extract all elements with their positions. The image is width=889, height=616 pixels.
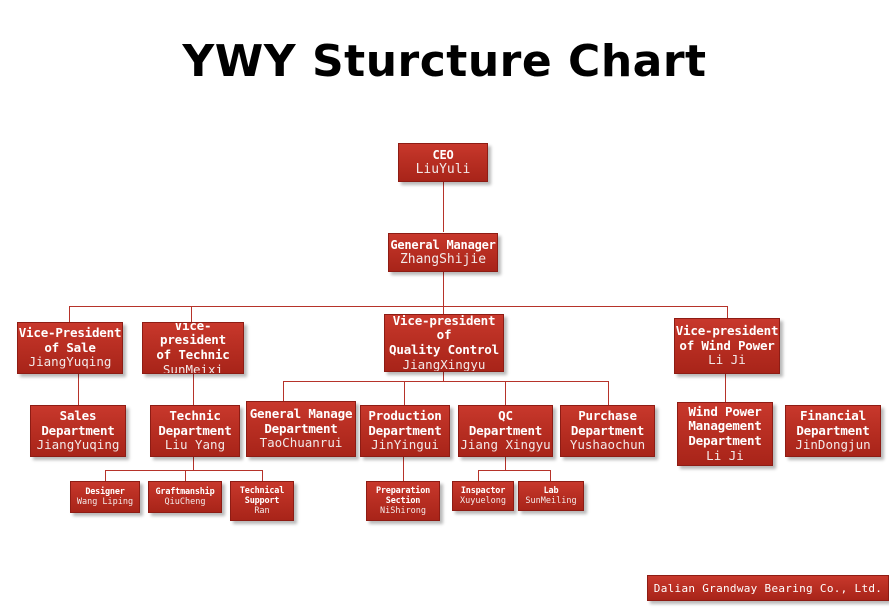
node-inspactor-name: Xuyuelong (460, 496, 506, 506)
node-purchase-department[interactable]: Purchase Department Yushaochun (560, 405, 655, 457)
node-preparation-section[interactable]: Preparation Section NiShirong (366, 481, 440, 521)
node-purchase-name: Yushaochun (570, 438, 645, 453)
node-preparation-name: NiShirong (380, 506, 426, 516)
connector-technic-sub-bus (105, 470, 262, 471)
node-vp-wind-name: Li Ji (708, 353, 746, 368)
page-title: YWY Sturcture Chart (0, 36, 889, 87)
node-ceo[interactable]: CEO LiuYuli (398, 143, 488, 182)
node-sales-line2: Department (41, 424, 114, 439)
node-preparation-line1: Preparation (376, 486, 430, 496)
node-technical-support[interactable]: Technical Support Ran (230, 481, 294, 521)
node-production-name: JinYingui (371, 438, 439, 453)
node-vp-wind-power[interactable]: Vice-president of Wind Power Li Ji (674, 318, 780, 374)
node-graftmanship-line1: Graftmanship (155, 487, 214, 497)
node-qcdept-line1: QC (498, 409, 513, 424)
node-graftmanship[interactable]: Graftmanship QiuCheng (148, 481, 222, 513)
company-name: Dalian Grandway Bearing Co., Ltd. (654, 582, 882, 595)
node-wind-line2: Management (688, 419, 761, 434)
node-vp-sale[interactable]: Vice-President of Sale JiangYuqing (17, 322, 123, 374)
node-financial-department[interactable]: Financial Department JinDongjun (785, 405, 881, 457)
node-wind-line3: Department (688, 434, 761, 449)
node-general-manager-name: ZhangShijie (400, 252, 486, 267)
node-financial-name: JinDongjun (795, 438, 870, 453)
node-vp-qc-line1: Vice-president of (385, 314, 503, 343)
company-footer-banner: Dalian Grandway Bearing Co., Ltd. (647, 575, 889, 601)
node-qcdept-name: Jiang Xingyu (460, 438, 550, 453)
connector-qcbus-to-production (404, 381, 405, 405)
node-qc-department[interactable]: QC Department Jiang Xingyu (458, 405, 553, 457)
node-technic-department[interactable]: Technic Department Liu Yang (150, 405, 240, 457)
node-inspactor-line1: Inspactor (461, 486, 505, 496)
connector-gm-down (443, 272, 444, 306)
node-lab-name: SunMeiling (525, 496, 576, 506)
connector-bus-to-vp-sale (69, 306, 70, 322)
node-sales-line1: Sales (60, 409, 97, 424)
node-purchase-line2: Department (571, 424, 644, 439)
node-vp-qc-line2: Quality Control (389, 343, 499, 358)
node-vp-technic-line2: of Technic (156, 348, 229, 363)
connector-qcbus-to-qcdept (505, 381, 506, 405)
node-designer-name: Wang Liping (77, 497, 133, 507)
node-purchase-line1: Purchase (578, 409, 637, 424)
node-qcdept-line2: Department (469, 424, 542, 439)
node-vp-technic[interactable]: Vice-president of Technic SunMeixi (142, 322, 244, 374)
node-designer-line1: Designer (85, 487, 124, 497)
connector-qcdept-down (505, 457, 506, 470)
connector-qcbus-to-purchase (608, 381, 609, 405)
node-inspactor[interactable]: Inspactor Xuyuelong (452, 481, 514, 511)
node-genmanage-line2: Department (264, 422, 337, 437)
connector-vp-bus (69, 306, 728, 307)
node-vp-technic-line1: Vice-president (143, 322, 243, 348)
node-wind-power-management-department[interactable]: Wind Power Management Department Li Ji (677, 402, 773, 466)
node-vp-wind-line1: Vice-president (676, 324, 779, 339)
connector-technicdept-down (193, 457, 194, 470)
node-general-manager[interactable]: General Manager ZhangShijie (388, 233, 498, 272)
connector-qc-sub-bus (478, 470, 550, 471)
node-general-manage-department[interactable]: General Manage Department TaoChuanrui (246, 401, 356, 457)
node-technic-line2: Department (158, 424, 231, 439)
connector-vpwind-to-winddept (725, 374, 726, 402)
node-lab-line1: Lab (544, 486, 559, 496)
connector-subbus-to-designer (105, 470, 106, 481)
node-techsupport-line1: Technical (240, 486, 284, 496)
node-genmanage-name: TaoChuanrui (260, 436, 343, 451)
node-designer[interactable]: Designer Wang Liping (70, 481, 140, 513)
node-production-line1: Production (368, 409, 441, 424)
node-vp-quality-control[interactable]: Vice-president of Quality Control JiangX… (384, 314, 504, 372)
node-technic-line1: Technic (169, 409, 220, 424)
node-production-department[interactable]: Production Department JinYingui (360, 405, 450, 457)
node-production-line2: Department (368, 424, 441, 439)
node-ceo-name: LiuYuli (416, 162, 471, 177)
connector-qc-bus (283, 381, 609, 382)
node-sales-department[interactable]: Sales Department JiangYuqing (30, 405, 126, 457)
node-vp-wind-line2: of Wind Power (679, 339, 774, 354)
node-vp-qc-name: JiangXingyu (403, 358, 486, 372)
node-techsupport-name: Ran (254, 506, 269, 516)
node-lab[interactable]: Lab SunMeiling (518, 481, 584, 511)
node-technic-name: Liu Yang (165, 438, 225, 453)
node-general-manager-title: General Manager (390, 238, 495, 252)
node-techsupport-line2: Support (245, 496, 279, 506)
node-sales-name: JiangYuqing (37, 438, 120, 453)
node-vp-technic-name: SunMeixi (163, 363, 223, 374)
node-genmanage-line1: General Manage (250, 407, 353, 422)
node-wind-name: Li Ji (706, 449, 744, 464)
node-financial-line2: Department (796, 424, 869, 439)
connector-vpsale-to-sales (78, 374, 79, 405)
node-vp-sale-line2: of Sale (44, 341, 95, 356)
node-ceo-title: CEO (432, 148, 453, 162)
org-chart-canvas: YWY Sturcture Chart CEO LiuYuli General … (0, 0, 889, 616)
node-vp-sale-line1: Vice-President (19, 326, 122, 341)
connector-bus-to-vp-technic (191, 306, 192, 322)
node-vp-sale-name: JiangYuqing (29, 355, 112, 370)
node-graftmanship-name: QiuCheng (165, 497, 206, 507)
connector-vptechnic-to-technic (193, 374, 194, 405)
connector-subbus-to-lab (550, 470, 551, 481)
connector-subbus-to-inspactor (478, 470, 479, 481)
connector-production-to-preparation (403, 457, 404, 481)
connector-subbus-to-graftmanship (185, 470, 186, 481)
node-financial-line1: Financial (800, 409, 866, 424)
node-preparation-line2: Section (386, 496, 420, 506)
connector-ceo-to-gm (443, 182, 444, 232)
node-wind-line1: Wind Power (688, 405, 761, 420)
connector-subbus-to-techsupport (262, 470, 263, 481)
